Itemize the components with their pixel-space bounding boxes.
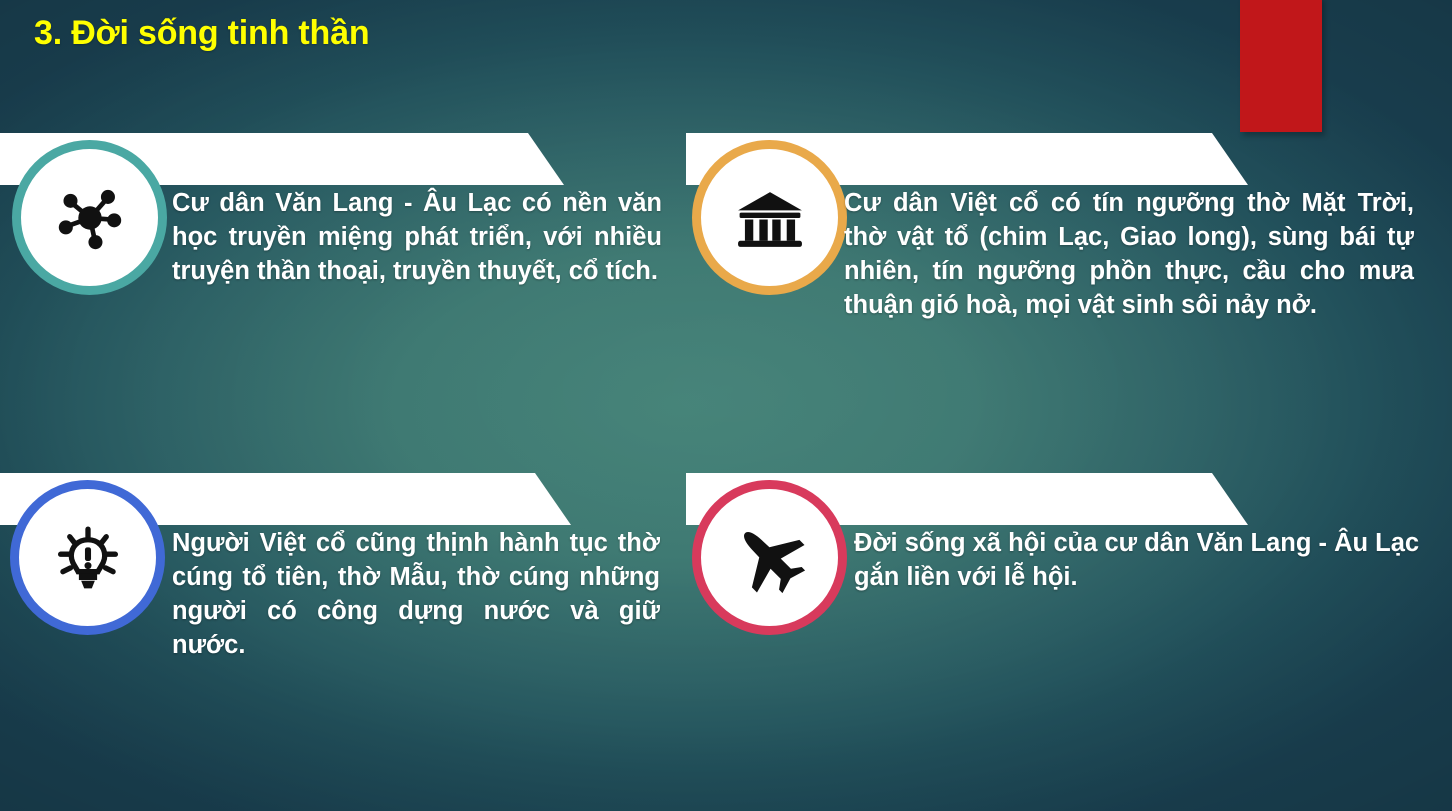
lightbulb-idea-icon (50, 520, 126, 596)
info-card-4: Đời sống xã hội của cư dân Văn Lang - Âu… (686, 473, 1452, 673)
network-hub-icon (51, 179, 129, 257)
airplane-icon (730, 518, 810, 598)
info-card-1: Cư dân Văn Lang - Âu Lạc có nền văn học … (0, 133, 680, 403)
card-text: Cư dân Việt cổ có tín ngưỡng thờ Mặt Trờ… (844, 187, 1414, 323)
icon-badge-lightbulb[interactable] (10, 480, 165, 635)
card-text: Người Việt cổ cũng thịnh hành tục thờ cú… (172, 527, 660, 663)
info-card-2: Cư dân Việt cổ có tín ngưỡng thờ Mặt Trờ… (686, 133, 1452, 423)
card-text: Đời sống xã hội của cư dân Văn Lang - Âu… (854, 527, 1434, 595)
icon-badge-temple[interactable] (692, 140, 847, 295)
slide-canvas: 3. Đời sống tinh thần (0, 0, 1452, 811)
icon-badge-network[interactable] (12, 140, 167, 295)
card-text: Cư dân Văn Lang - Âu Lạc có nền văn học … (172, 187, 662, 289)
accent-rectangle (1240, 0, 1322, 132)
icon-badge-airplane[interactable] (692, 480, 847, 635)
page-title: 3. Đời sống tinh thần (34, 14, 369, 53)
info-card-3: Người Việt cổ cũng thịnh hành tục thờ cú… (0, 473, 680, 743)
classical-temple-icon (732, 180, 808, 256)
